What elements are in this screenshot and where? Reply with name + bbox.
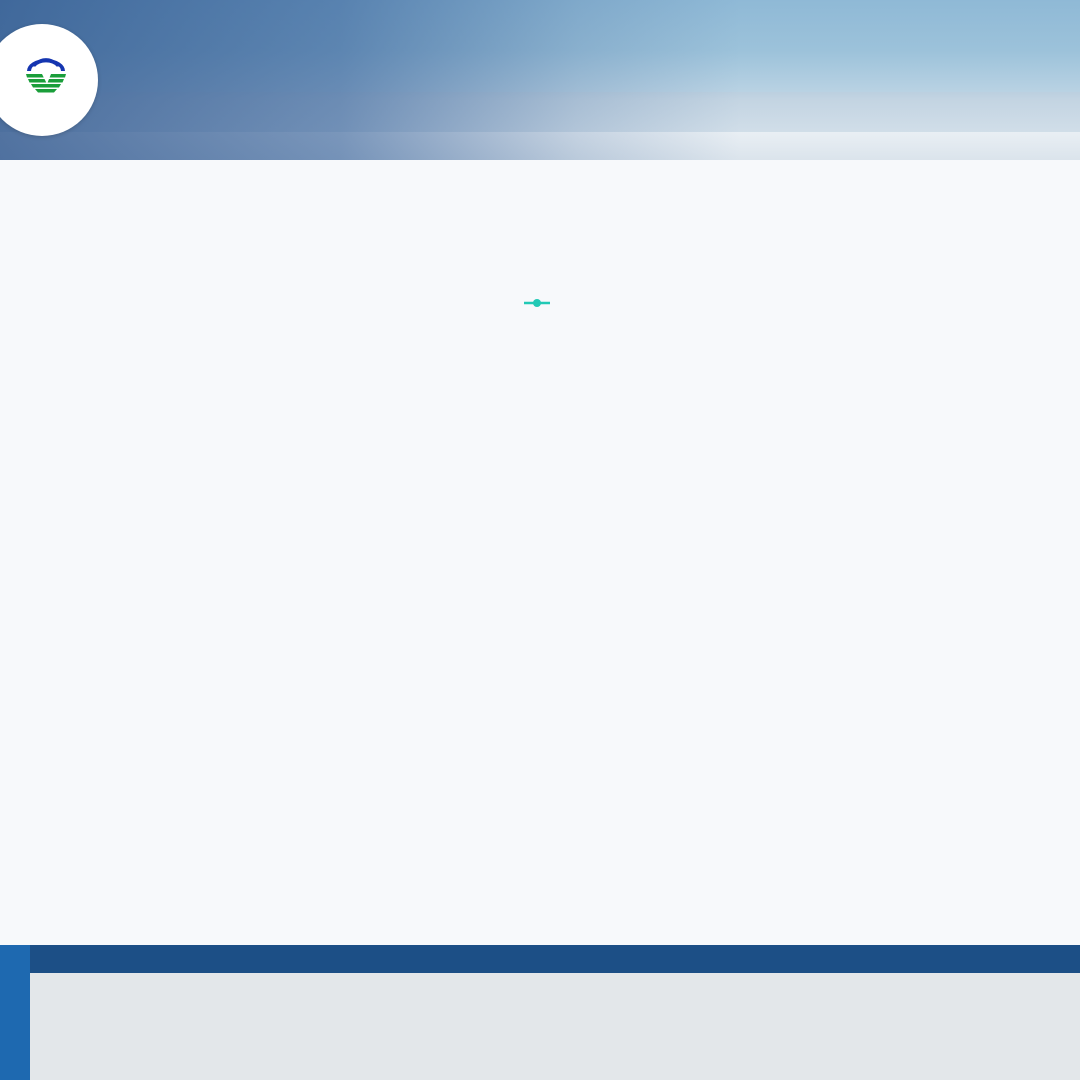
legend-icon-list (30, 975, 1080, 981)
legend-bar (0, 945, 1080, 1080)
legend-note (30, 945, 1080, 973)
page-header (0, 0, 1080, 160)
legend-tab (0, 945, 30, 1080)
sst-chart-legend (28, 296, 1052, 306)
sst-chart (0, 198, 1080, 306)
bmkg-logo-mark (18, 51, 74, 107)
header-blue-overlay (0, 0, 740, 160)
legend-marker-icon (523, 296, 551, 306)
sst-chart-plot (28, 198, 1052, 290)
